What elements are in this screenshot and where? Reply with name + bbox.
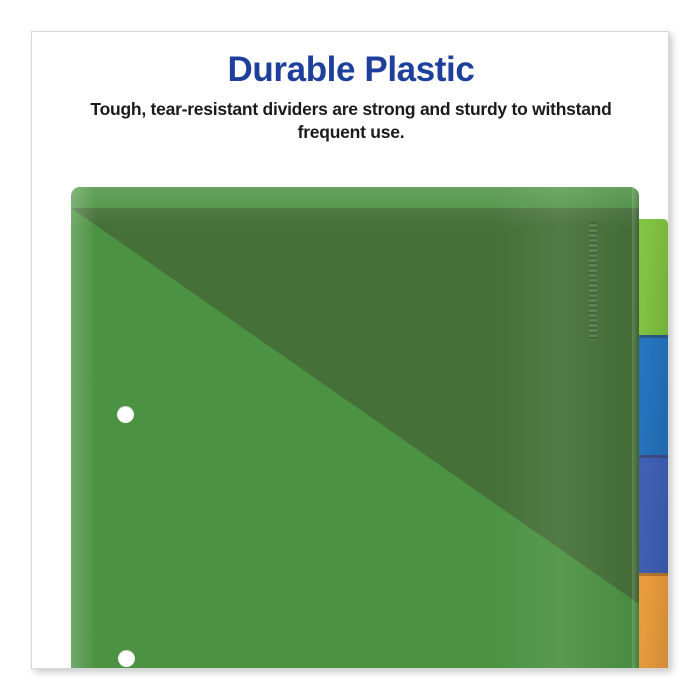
punch-hole-bottom: [118, 650, 135, 667]
product-card: Durable Plastic Tough, tear-resistant di…: [31, 31, 669, 669]
product-photo: [32, 32, 669, 669]
product-image-stage: Durable Plastic Tough, tear-resistant di…: [0, 0, 700, 700]
punch-hole-top: [117, 406, 134, 423]
divider-folded-corner: [71, 187, 639, 669]
divider-sheet: [71, 187, 639, 669]
binding-edge-strip: [71, 187, 95, 669]
